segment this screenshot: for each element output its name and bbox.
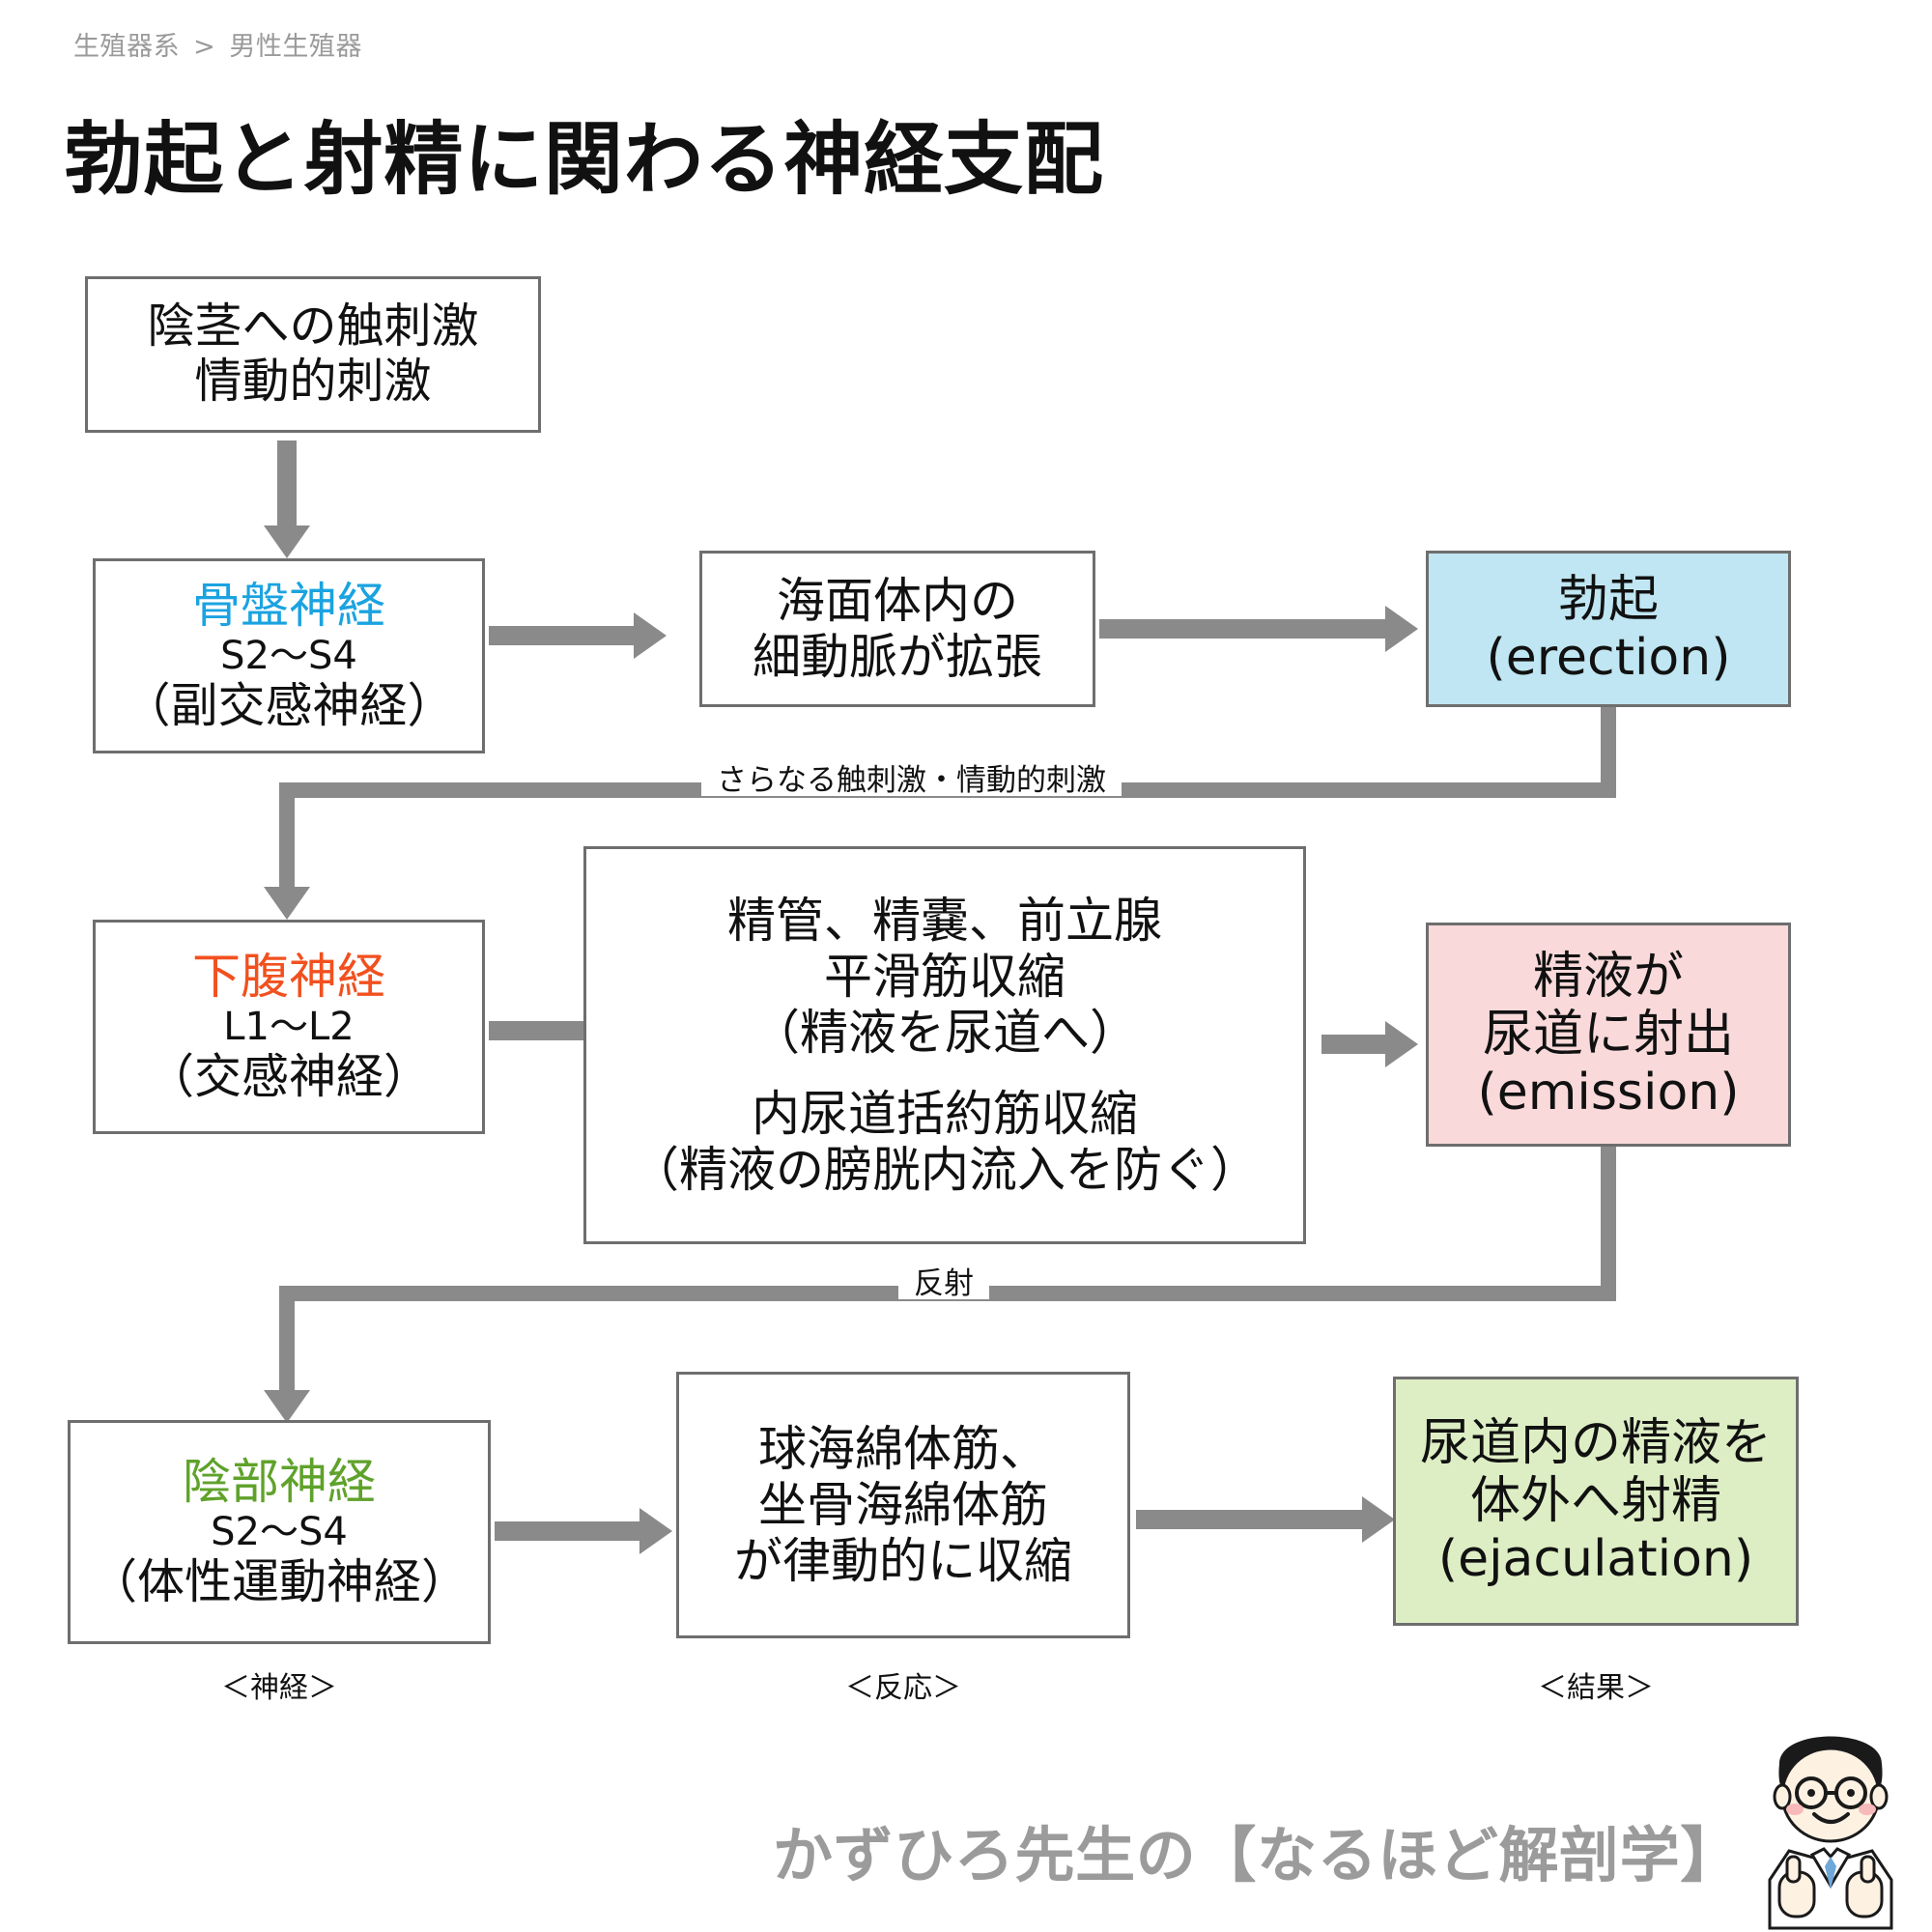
breadcrumb-current[interactable]: 男性生殖器 [229,32,362,62]
watermark-text: かずひろ先生の【なるほど解剖学】 [773,1806,1741,1893]
box-emission: 精液が 尿道に射出 (emission) [1426,923,1791,1147]
arrow-muscle-to-ejaculation [1136,1510,1362,1529]
arrow-pelvic-to-arteriole [489,626,634,645]
box-arteriole-dilation-line-1: 海面体内の [777,573,1018,629]
box-hypogastric-nerve: 下腹神経 L1〜L2 （交感神経） [93,920,485,1134]
arrow-pudendal-to-muscle [495,1521,639,1541]
box-emission-line-2: 尿道に射出 [1483,1006,1734,1064]
column-label-nerve: ＜神経＞ [68,1663,491,1706]
box-emission-line-1: 精液が [1533,948,1684,1006]
reflex-line-to-pudendal [279,1286,295,1390]
arrow-pelvic-to-arteriole-head [634,612,667,659]
box-ejaculation-line-1: 尿道内の精液を [1420,1414,1772,1472]
box-erection: 勃起 (erection) [1426,551,1791,707]
box-smooth-muscle-line-5: （精液の膀胱内流入を防ぐ） [631,1142,1259,1198]
box-arteriole-dilation-line-2: 細動脈が拡張 [753,629,1042,685]
box-stimulus-line-2: 情動的刺激 [194,355,431,410]
page-title: 勃起と射精に関わる神経支配 [64,95,1104,210]
box-hypogastric-nerve-type: （交感神経） [147,1050,431,1105]
arrow-arteriole-to-erection-head [1385,606,1418,652]
reflex-line-emission-down [1601,1147,1616,1293]
box-pelvic-nerve-segment: S2〜S4 [220,634,357,678]
box-pelvic-nerve-name: 骨盤神経 [192,578,385,634]
box-pudendal-nerve-segment: S2〜S4 [211,1510,348,1554]
arrow-arteriole-to-erection [1099,619,1385,639]
breadcrumb-separator: > [193,32,215,62]
box-ejaculation-line-2: 体外へ射精 [1470,1472,1721,1530]
box-erection-line-1: 勃起 [1558,571,1659,629]
arrow-stimulus-to-pelvic-nerve-head [264,526,310,558]
mascot-illustration [1729,1710,1932,1932]
box-smooth-muscle-line-1: 精管、精嚢、前立腺 [727,893,1162,949]
box-smooth-muscle: 精管、精嚢、前立腺 平滑筋収縮 （精液を尿道へ） 内尿道括約筋収縮 （精液の膀胱… [583,846,1306,1244]
box-muscle-contraction-line-1: 球海綿体筋、 [758,1421,1048,1477]
arrow-muscle-to-ejaculation-head [1362,1496,1395,1543]
box-smooth-muscle-line-2: 平滑筋収縮 [824,949,1065,1005]
box-pudendal-nerve-name: 陰部神経 [183,1454,376,1510]
arrow-pudendal-to-muscle-head [639,1508,672,1554]
arrow-smooth-muscle-to-emission-head [1385,1021,1418,1067]
box-ejaculation: 尿道内の精液を 体外へ射精 (ejaculation) [1393,1377,1799,1626]
feedback-line-erection-down [1601,707,1616,790]
label-reflex: 反射 [898,1269,989,1299]
box-muscle-contraction-line-3: が律動的に収縮 [734,1533,1072,1589]
box-emission-line-3: (emission) [1477,1064,1739,1122]
box-erection-line-2: (erection) [1487,629,1731,687]
box-pudendal-nerve: 陰部神経 S2〜S4 （体性運動神経） [68,1420,491,1644]
box-stimulus: 陰茎への触刺激 情動的刺激 [85,276,541,433]
label-further-stimulus: さらなる触刺激・情動的刺激 [701,766,1122,796]
box-arteriole-dilation: 海面体内の 細動脈が拡張 [699,551,1095,707]
breadcrumb: 生殖器系>男性生殖器 [73,25,362,63]
arrow-smooth-muscle-to-emission [1321,1035,1385,1054]
box-pelvic-nerve-type: （副交感神経） [123,679,454,734]
box-ejaculation-line-3: (ejaculation) [1438,1530,1753,1588]
box-muscle-contraction: 球海綿体筋、 坐骨海綿体筋 が律動的に収縮 [676,1372,1130,1638]
box-hypogastric-nerve-segment: L1〜L2 [223,1005,354,1049]
box-stimulus-line-1: 陰茎への触刺激 [147,299,478,355]
breadcrumb-root[interactable]: 生殖器系 [73,32,180,62]
box-muscle-contraction-line-2: 坐骨海綿体筋 [758,1477,1048,1533]
box-pudendal-nerve-type: （体性運動神経） [90,1555,469,1610]
box-smooth-muscle-line-4: 内尿道括約筋収縮 [752,1086,1138,1142]
box-pelvic-nerve: 骨盤神経 S2〜S4 （副交感神経） [93,558,485,753]
feedback-arrow-to-hypogastric-head [264,887,310,920]
diagram-canvas: 生殖器系>男性生殖器 勃起と射精に関わる神経支配 陰茎への触刺激 情動的刺激 骨… [0,0,1932,1932]
column-label-response: ＜反応＞ [676,1663,1130,1706]
box-hypogastric-nerve-name: 下腹神経 [192,949,385,1005]
column-label-result: ＜結果＞ [1393,1663,1799,1706]
box-smooth-muscle-line-3: （精液を尿道へ） [752,1005,1138,1061]
reflex-arrow-to-pudendal-head [264,1390,310,1423]
feedback-line-to-hypogastric [279,782,295,887]
arrow-stimulus-to-pelvic-nerve [277,440,297,526]
